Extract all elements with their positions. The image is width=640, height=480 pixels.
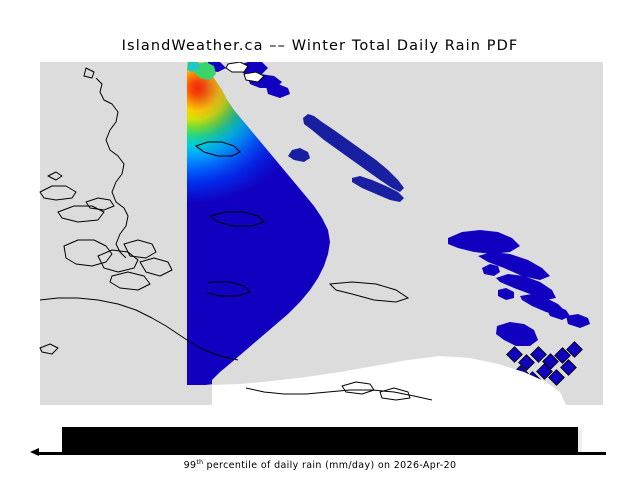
coastline-speck-1: [48, 172, 62, 180]
coastline-island-nw-3: [86, 198, 114, 210]
caption-percentile-value: 99: [184, 460, 197, 471]
colorbar-caption: 99th percentile of daily rain (mm/day) o…: [0, 458, 640, 471]
colorbar-arrow-icon: [30, 448, 39, 456]
figure-area: [0, 0, 640, 480]
map-graphic: [0, 0, 640, 480]
colorbar-right-edge: [578, 429, 582, 453]
weather-map-page: IslandWeather.ca –– Winter Total Daily R…: [0, 0, 640, 480]
coastline-island-nw-1: [40, 186, 76, 200]
coastline-top-left: [84, 68, 94, 78]
colorbar-axis-line: [36, 452, 606, 455]
coastline-mainland-west: [96, 78, 128, 258]
caption-description: percentile of daily rain (mm/day) on 202…: [203, 460, 456, 471]
colorbar-gradient: [62, 427, 578, 453]
coastline-island-nw-2: [58, 206, 104, 222]
colorbar[interactable]: [62, 427, 578, 453]
mainland-lower-shelf: [40, 238, 187, 405]
